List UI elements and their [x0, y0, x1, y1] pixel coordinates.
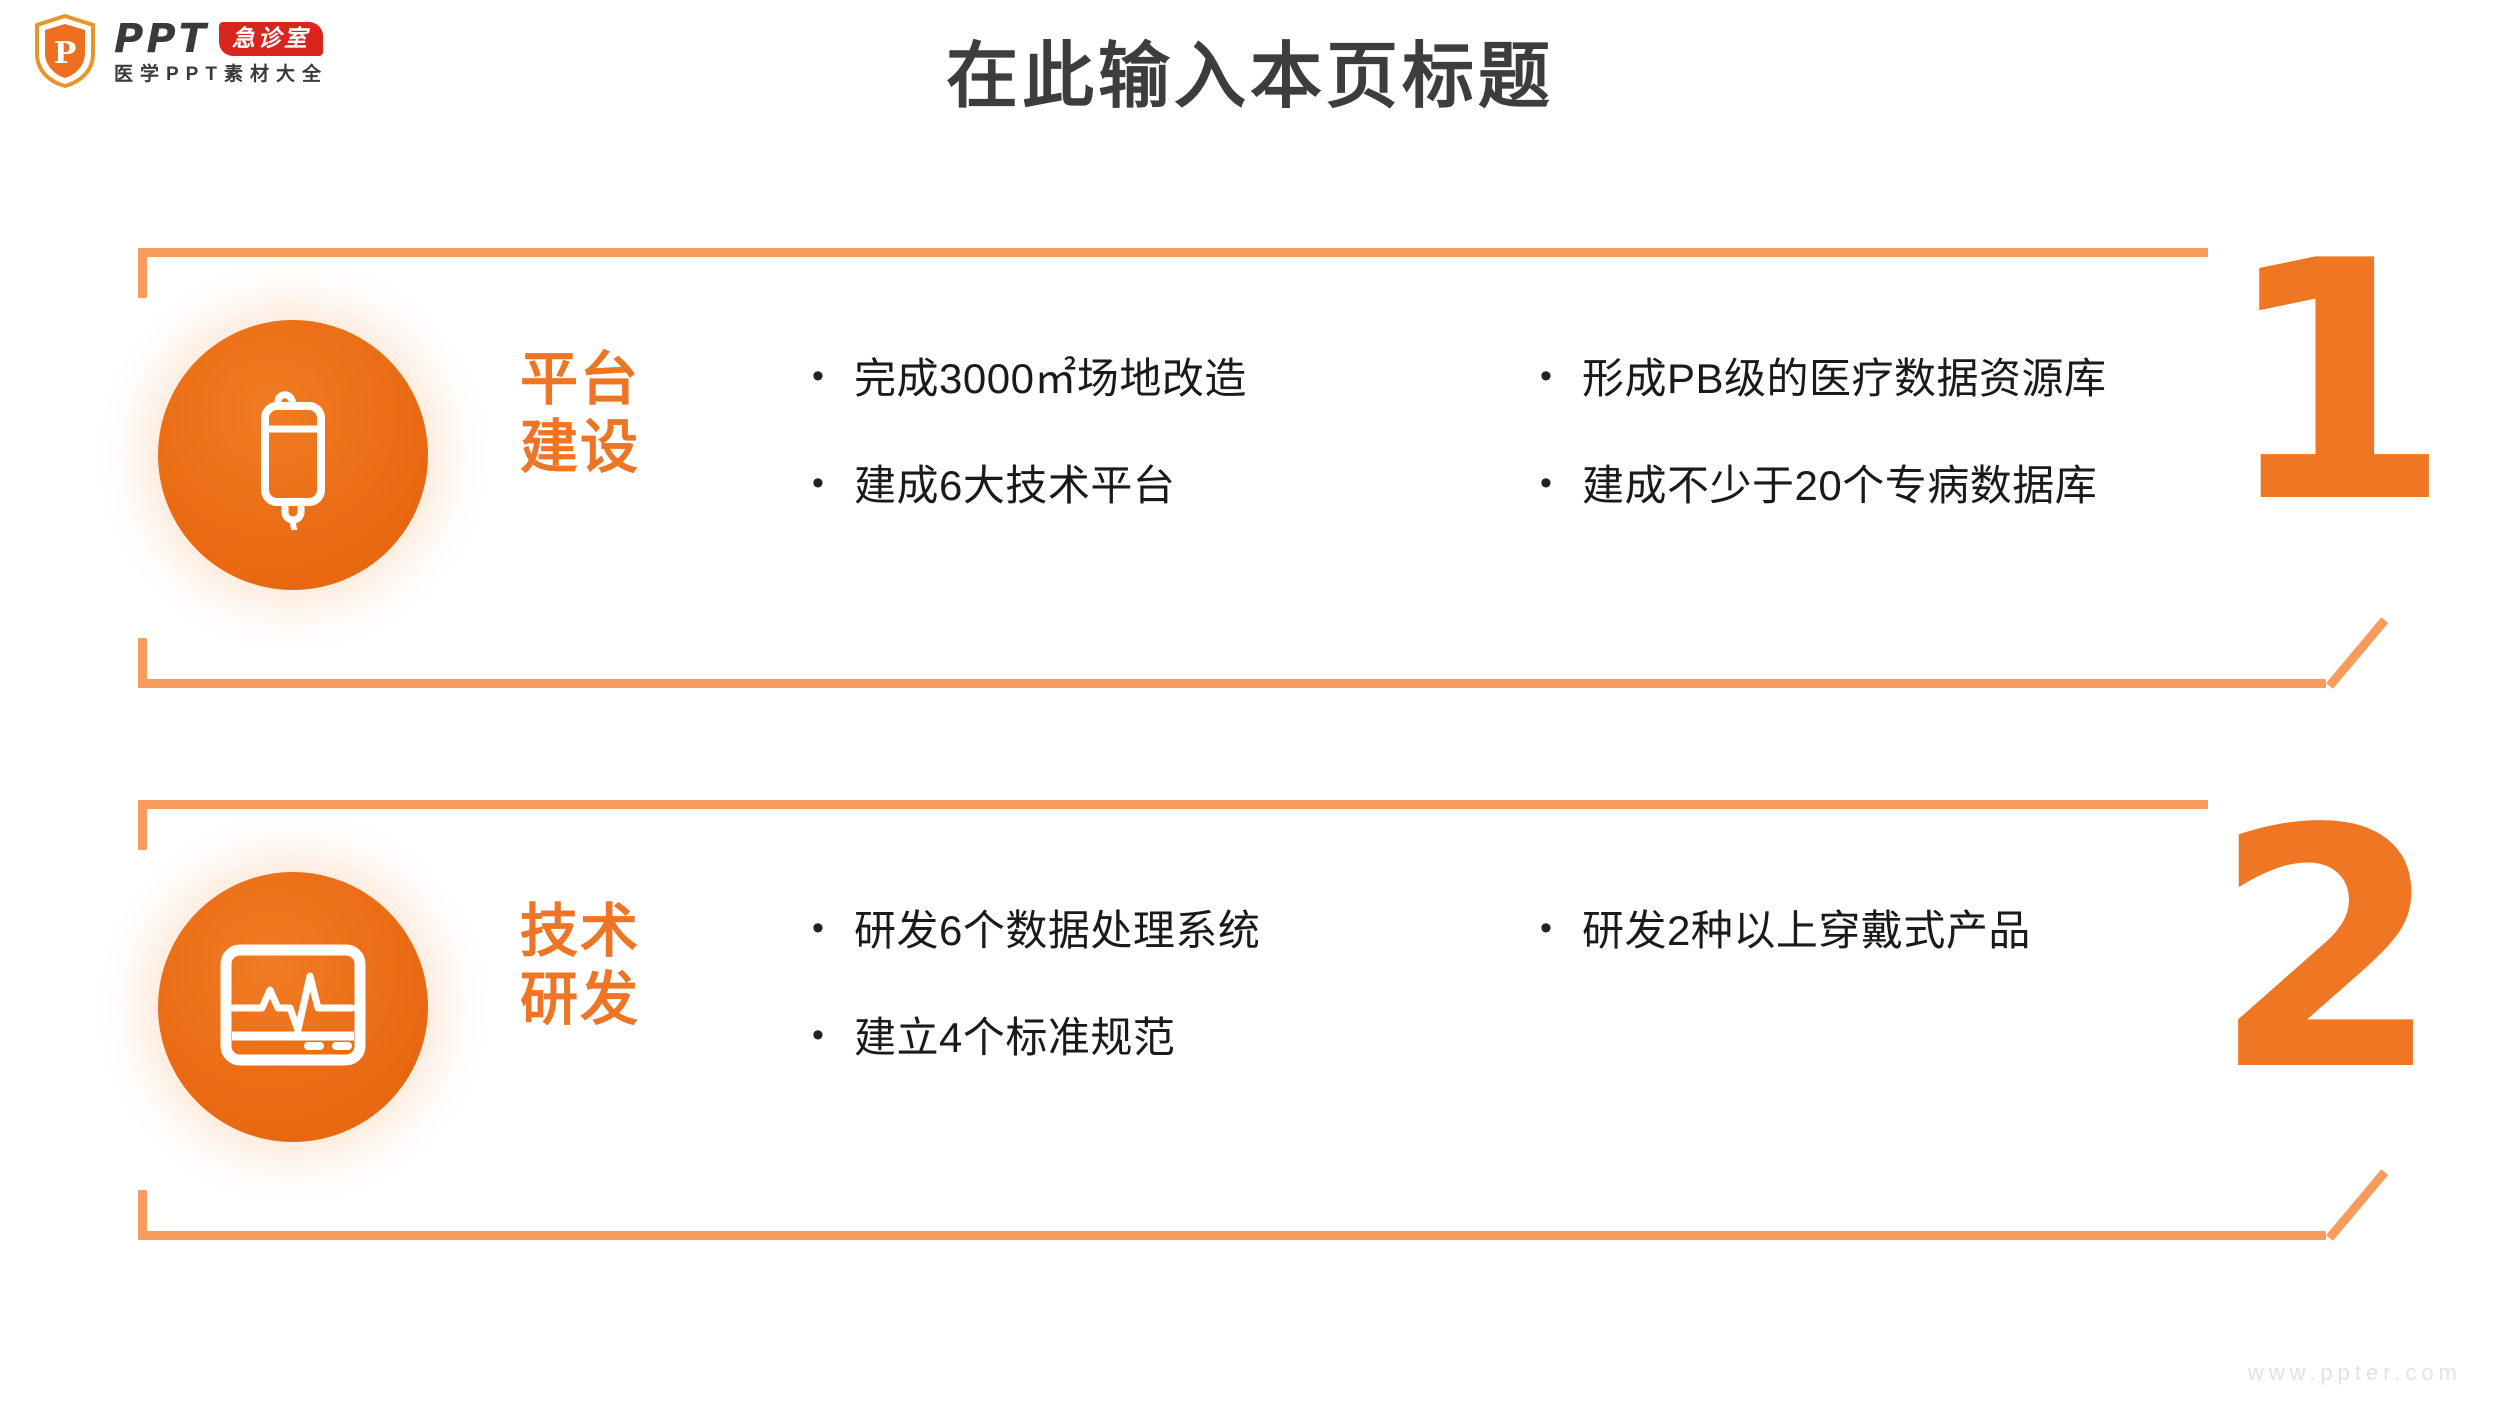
bullet-item: • 建成6大技术平台: [812, 460, 1592, 513]
bullet-text: 研发2种以上穿戴式产品: [1582, 905, 2031, 958]
card-label-line-1: 平台: [520, 346, 640, 414]
slide-root: P PPT 急诊室 医学PPT素材大全 在此输入本页标题: [0, 0, 2500, 1406]
card-frame-top-line: [138, 248, 2208, 257]
card-label-line-2: 研发: [520, 966, 640, 1034]
bullet-item: • 研发6个数据处理系统: [812, 905, 1592, 958]
card-frame-diagonal-tip: [2326, 1169, 2388, 1241]
card-label-line-1: 技术: [520, 898, 640, 966]
card-frame-top-line: [138, 800, 2208, 809]
bullet-item: • 完成3000㎡场地改造: [812, 353, 1592, 406]
bullet-text: 完成3000㎡场地改造: [854, 353, 1247, 406]
card-label-line-2: 建设: [520, 414, 640, 482]
card-2-bullets-column-1: • 研发6个数据处理系统 • 建立4个标准规范: [812, 905, 1592, 1118]
card-2: 技术 研发 • 研发6个数据处理系统 • 建立4个标准规范 • 研发2种以上穿戴…: [0, 800, 2500, 1240]
card-category-label: 平台 建设: [520, 346, 640, 483]
bullet-marker-icon: •: [812, 1018, 854, 1052]
bullet-marker-icon: •: [1540, 466, 1582, 500]
bullet-text: 形成PB级的医疗数据资源库: [1582, 353, 2107, 406]
bullet-marker-icon: •: [1540, 911, 1582, 945]
bullet-marker-icon: •: [812, 359, 854, 393]
bullet-item: • 建立4个标准规范: [812, 1012, 1592, 1065]
watermark-url: www.ppter.com: [2248, 1360, 2462, 1386]
card-1: 平台 建设 • 完成3000㎡场地改造 • 建成6大技术平台 • 形成PB级的医…: [0, 248, 2500, 688]
card-frame-diagonal-tip: [2326, 617, 2388, 689]
card-1-step-number: 1: [2222, 218, 2446, 548]
iv-drip-icon: [158, 320, 428, 590]
card-2-step-number: 2: [2212, 786, 2436, 1116]
card-frame-corner-top-left: [138, 800, 147, 850]
ecg-monitor-icon: [158, 872, 428, 1142]
bullet-text: 建成6大技术平台: [854, 460, 1175, 513]
card-category-label: 技术 研发: [520, 898, 640, 1035]
card-frame-corner-top-left: [138, 248, 147, 298]
bullet-marker-icon: •: [812, 911, 854, 945]
bullet-text: 建立4个标准规范: [854, 1012, 1175, 1065]
bullet-text: 研发6个数据处理系统: [854, 905, 1260, 958]
card-1-bullets-column-1: • 完成3000㎡场地改造 • 建成6大技术平台: [812, 353, 1592, 566]
bullet-text: 建成不少于20个专病数据库: [1582, 460, 2097, 513]
card-frame-bottom-line: [138, 679, 2326, 688]
page-title: 在此输入本页标题: [0, 36, 2500, 119]
bullet-marker-icon: •: [812, 466, 854, 500]
card-frame-bottom-line: [138, 1231, 2326, 1240]
bullet-marker-icon: •: [1540, 359, 1582, 393]
